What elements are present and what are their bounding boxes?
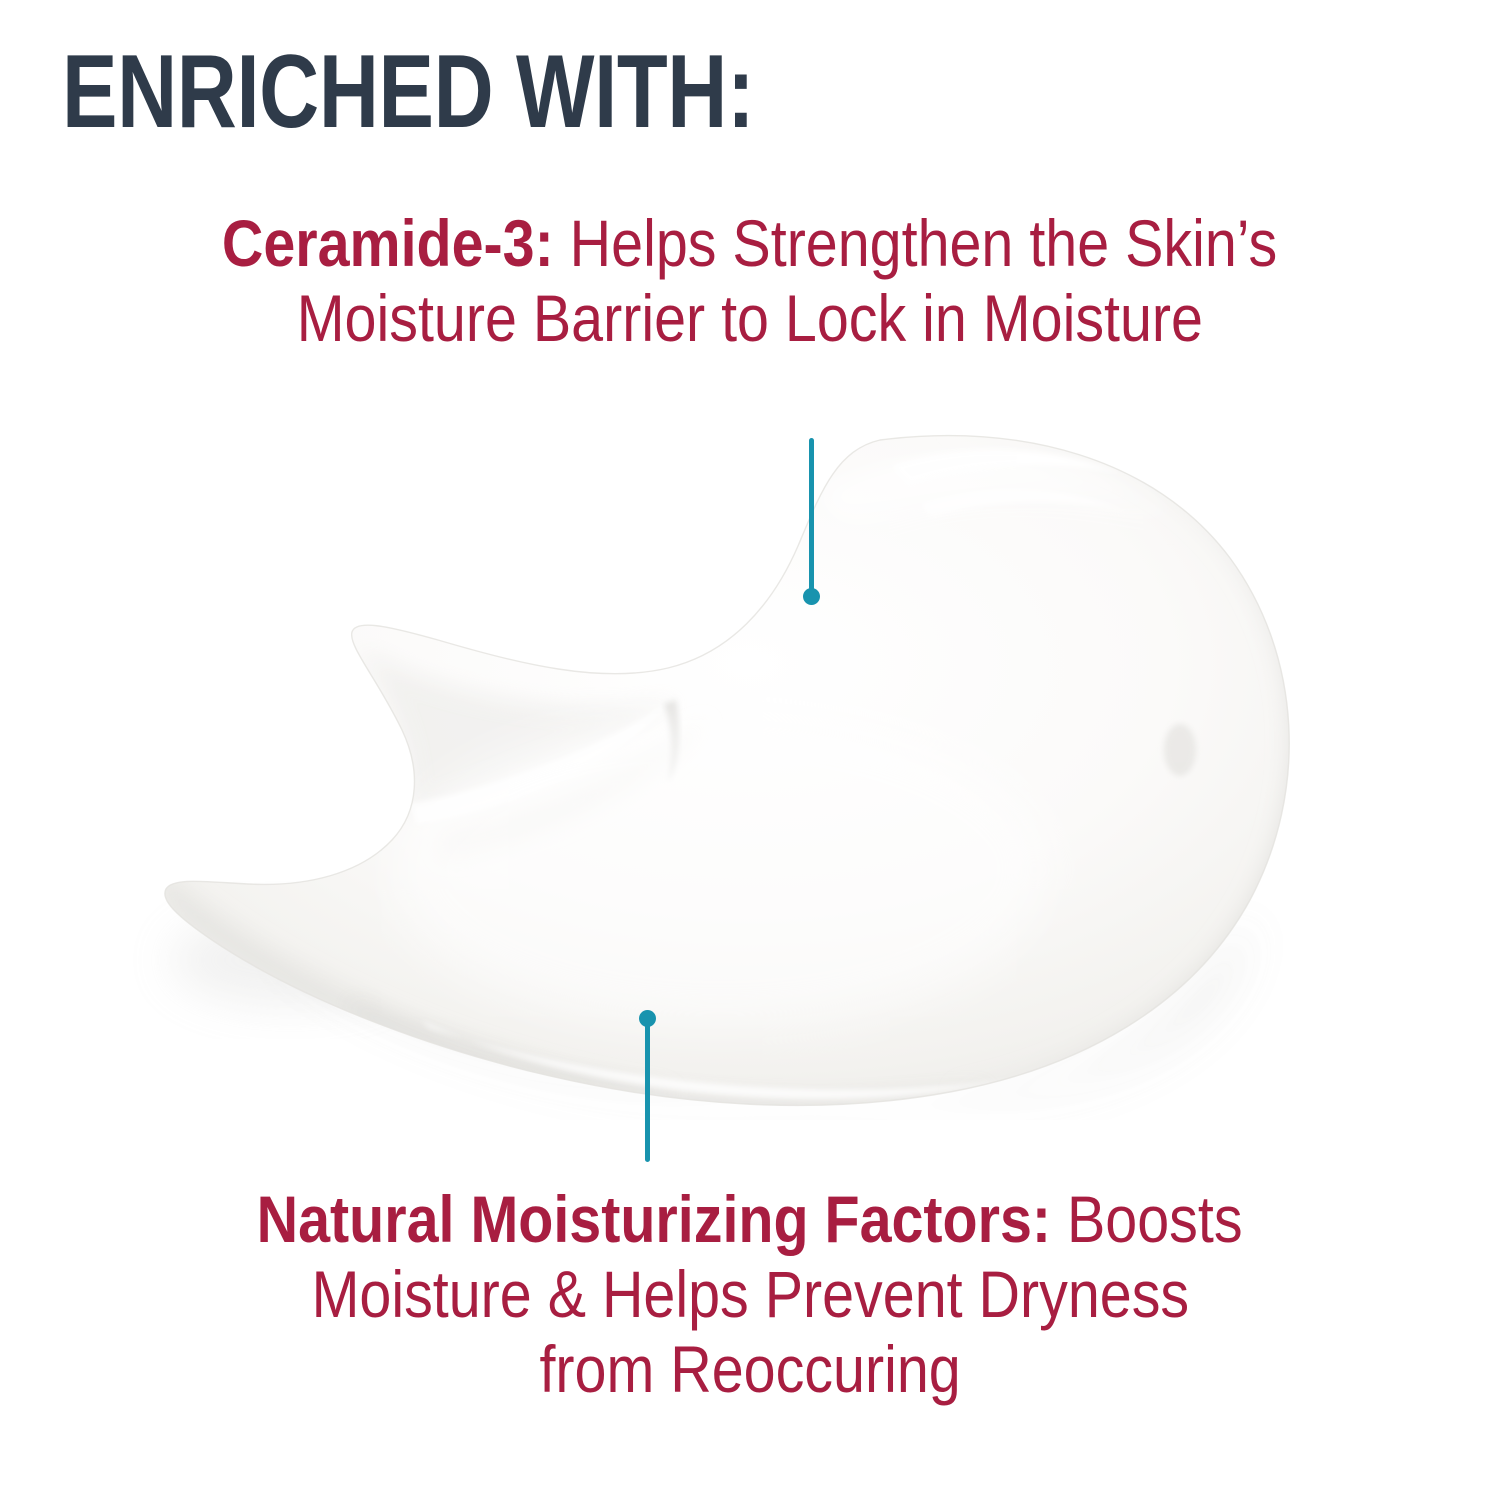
cream-swatch-svg	[120, 400, 1320, 1120]
claim-line: Natural Moisturizing Factors: Boosts	[257, 1182, 1243, 1257]
claim-line: from Reoccuring	[539, 1332, 960, 1407]
pointer-nmf	[645, 1010, 650, 1160]
pointer-ceramide	[809, 438, 814, 606]
cream-swatch-image	[120, 400, 1320, 1120]
pointer-dot	[639, 1010, 656, 1027]
claim-text: Helps Strengthen the Skin’s	[554, 206, 1278, 280]
claim-text: from Reoccuring	[539, 1332, 960, 1406]
cream-body	[158, 400, 1320, 1120]
pointer-line	[645, 1020, 650, 1162]
claim-ceramide-3: Ceramide-3: Helps Strengthen the Skin’s …	[0, 206, 1500, 356]
claim-line: Moisture Barrier to Lock in Moisture	[297, 281, 1203, 356]
claim-text: Moisture & Helps Prevent Dryness	[311, 1257, 1189, 1331]
page-title: ENRICHED WITH:	[62, 36, 754, 148]
infographic-canvas: ENRICHED WITH:	[0, 0, 1500, 1500]
pointer-line	[809, 438, 814, 596]
claim-text: Boosts	[1051, 1182, 1242, 1256]
ingredient-name: Ceramide-3:	[222, 206, 554, 280]
claim-line: Ceramide-3: Helps Strengthen the Skin’s	[222, 206, 1277, 281]
claim-text: Moisture Barrier to Lock in Moisture	[297, 281, 1203, 355]
claim-line: Moisture & Helps Prevent Dryness	[311, 1257, 1189, 1332]
claim-natural-moisturizing-factors: Natural Moisturizing Factors: Boosts Moi…	[0, 1182, 1500, 1408]
ingredient-name: Natural Moisturizing Factors:	[257, 1182, 1051, 1256]
pointer-dot	[803, 588, 820, 605]
